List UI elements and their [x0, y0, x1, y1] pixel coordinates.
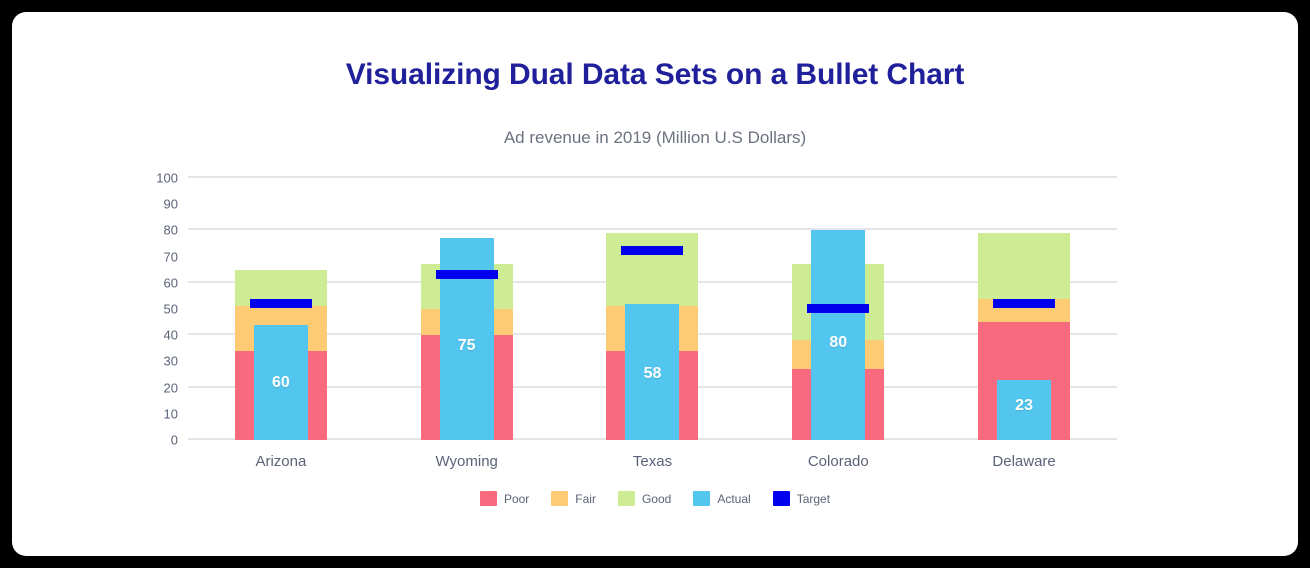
legend-item[interactable]: Fair	[551, 491, 596, 506]
screenshot-frame: Visualizing Dual Data Sets on a Bullet C…	[12, 12, 1298, 556]
target-marker	[993, 299, 1055, 308]
bar-group[interactable]: 75Wyoming	[374, 178, 560, 440]
target-marker	[250, 299, 312, 308]
y-axis-tick-label: 60	[164, 275, 178, 290]
page-title: Visualizing Dual Data Sets on a Bullet C…	[12, 58, 1298, 92]
data-label: 58	[625, 365, 679, 383]
legend-item[interactable]: Actual	[693, 491, 750, 506]
x-axis-label: Colorado	[745, 453, 931, 470]
bar-group[interactable]: 58Texas	[560, 178, 746, 440]
legend-item[interactable]: Target	[773, 491, 830, 506]
legend-item[interactable]: Good	[618, 491, 671, 506]
data-label: 60	[254, 374, 308, 392]
legend-label: Good	[642, 492, 671, 506]
chart-subtitle: Ad revenue in 2019 (Million U.S Dollars)	[12, 128, 1298, 148]
actual-bar[interactable]: 80	[811, 230, 865, 440]
plot-area: 1009080706050403020100 60Arizona75Wyomin…	[188, 178, 1117, 440]
legend-swatch-icon	[618, 491, 635, 506]
target-marker	[621, 246, 683, 255]
target-marker	[436, 270, 498, 279]
y-axis-tick-label: 50	[164, 302, 178, 317]
legend-item[interactable]: Poor	[480, 491, 529, 506]
x-axis-label: Wyoming	[374, 453, 560, 470]
data-label: 23	[997, 397, 1051, 415]
legend-label: Fair	[575, 492, 596, 506]
y-axis-tick-label: 100	[156, 171, 178, 186]
bar-group[interactable]: 23Delaware	[931, 178, 1117, 440]
bar-group[interactable]: 80Colorado	[745, 178, 931, 440]
legend-swatch-icon	[773, 491, 790, 506]
actual-bar[interactable]: 23	[997, 380, 1051, 440]
actual-bar[interactable]: 75	[440, 238, 494, 440]
y-axis-tick-label: 40	[164, 328, 178, 343]
x-axis-label: Texas	[560, 453, 746, 470]
legend-label: Poor	[504, 492, 529, 506]
legend-swatch-icon	[693, 491, 710, 506]
y-axis-tick-label: 10	[164, 406, 178, 421]
y-axis-tick-label: 0	[171, 433, 178, 448]
actual-bar[interactable]: 60	[254, 325, 308, 440]
legend-swatch-icon	[480, 491, 497, 506]
x-axis-label: Delaware	[931, 453, 1117, 470]
y-axis-tick-label: 70	[164, 249, 178, 264]
bar-group[interactable]: 60Arizona	[188, 178, 374, 440]
data-label: 75	[440, 337, 494, 355]
chart-legend: PoorFairGoodActualTarget	[12, 491, 1298, 506]
data-label: 80	[811, 334, 865, 352]
y-axis-tick-label: 80	[164, 223, 178, 238]
legend-label: Actual	[717, 492, 750, 506]
legend-label: Target	[797, 492, 830, 506]
actual-bar[interactable]: 58	[625, 304, 679, 440]
target-marker	[807, 304, 869, 313]
x-axis-label: Arizona	[188, 453, 374, 470]
legend-swatch-icon	[551, 491, 568, 506]
y-axis-tick-label: 30	[164, 354, 178, 369]
y-axis-tick-label: 90	[164, 197, 178, 212]
chart-card: Visualizing Dual Data Sets on a Bullet C…	[12, 12, 1298, 556]
y-axis-tick-label: 20	[164, 380, 178, 395]
